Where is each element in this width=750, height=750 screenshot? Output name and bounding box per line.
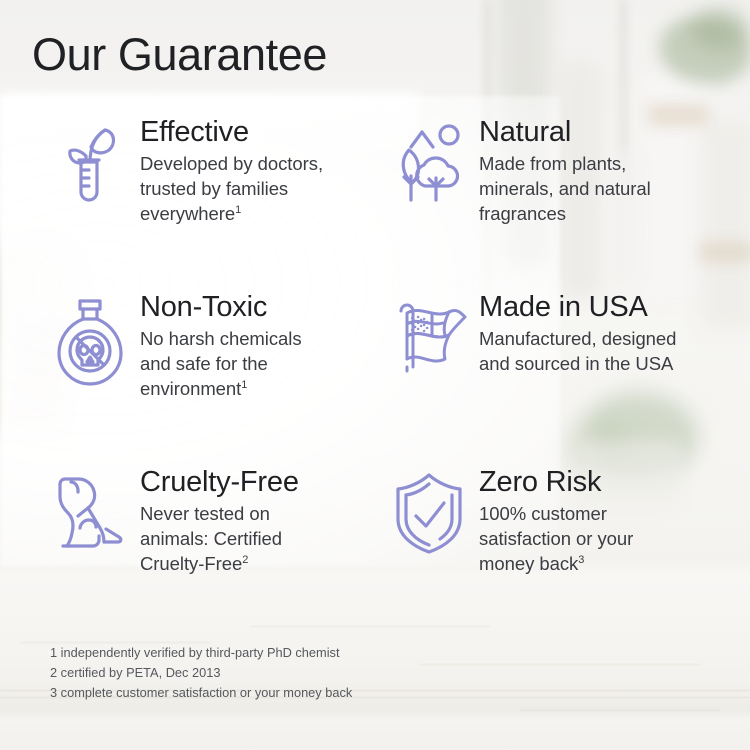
feature-made-in-usa: Made in USA Manufactured, designed and s… <box>375 291 750 466</box>
feature-description: Manufactured, designed and sourced in th… <box>479 327 676 377</box>
feature-description: 100% customer satisfaction or your money… <box>479 502 633 576</box>
footnote-marker: 1 <box>235 204 241 216</box>
trees-mountain-sun-icon <box>387 116 471 204</box>
feature-title: Made in USA <box>479 291 676 323</box>
feature-description: Made from plants, minerals, and natural … <box>479 152 651 226</box>
feature-zero-risk: Zero Risk 100% customer satisfaction or … <box>375 466 750 616</box>
shield-check-icon <box>387 466 471 556</box>
feature-title: Non-Toxic <box>140 291 302 323</box>
features-grid: Effective Developed by doctors, trusted … <box>0 116 750 616</box>
features-row: Cruelty-Free Never tested on animals: Ce… <box>0 466 750 616</box>
footnote-marker: 3 <box>578 554 584 566</box>
sitting-dog-icon <box>48 466 132 554</box>
feature-description: Developed by doctors, trusted by familie… <box>140 152 323 226</box>
footnote-2: 2 certified by PETA, Dec 2013 <box>50 663 352 683</box>
feature-text: Zero Risk 100% customer satisfaction or … <box>471 466 633 577</box>
features-row: Non-Toxic No harsh chemicals and safe fo… <box>0 291 750 466</box>
feature-text: Effective Developed by doctors, trusted … <box>132 116 323 227</box>
feature-non-toxic: Non-Toxic No harsh chemicals and safe fo… <box>0 291 375 466</box>
footnote-marker: 2 <box>242 554 248 566</box>
feature-title: Natural <box>479 116 651 148</box>
feature-effective: Effective Developed by doctors, trusted … <box>0 116 375 291</box>
feature-text: Non-Toxic No harsh chemicals and safe fo… <box>132 291 302 402</box>
feature-description: No harsh chemicals and safe for the envi… <box>140 327 302 401</box>
feature-text: Made in USA Manufactured, designed and s… <box>471 291 676 377</box>
guarantee-infographic: Our Guarantee <box>0 0 750 750</box>
poison-bottle-skull-icon <box>48 291 132 387</box>
feature-title: Zero Risk <box>479 466 633 498</box>
usa-flag-icon <box>387 291 471 375</box>
features-row: Effective Developed by doctors, trusted … <box>0 116 750 291</box>
footnotes: 1 independently verified by third-party … <box>50 643 352 702</box>
feature-title: Effective <box>140 116 323 148</box>
feature-description: Never tested on animals: Certified Cruel… <box>140 502 299 576</box>
feature-natural: Natural Made from plants, minerals, and … <box>375 116 750 291</box>
feature-text: Cruelty-Free Never tested on animals: Ce… <box>132 466 299 577</box>
feature-text: Natural Made from plants, minerals, and … <box>471 116 651 227</box>
feature-title: Cruelty-Free <box>140 466 299 498</box>
page-title: Our Guarantee <box>32 32 327 77</box>
footnote-marker: 1 <box>241 379 247 391</box>
feature-cruelty-free: Cruelty-Free Never tested on animals: Ce… <box>0 466 375 616</box>
footnote-1: 1 independently verified by third-party … <box>50 643 352 663</box>
test-tube-leaf-icon <box>48 116 132 206</box>
footnote-3: 3 complete customer satisfaction or your… <box>50 683 352 703</box>
